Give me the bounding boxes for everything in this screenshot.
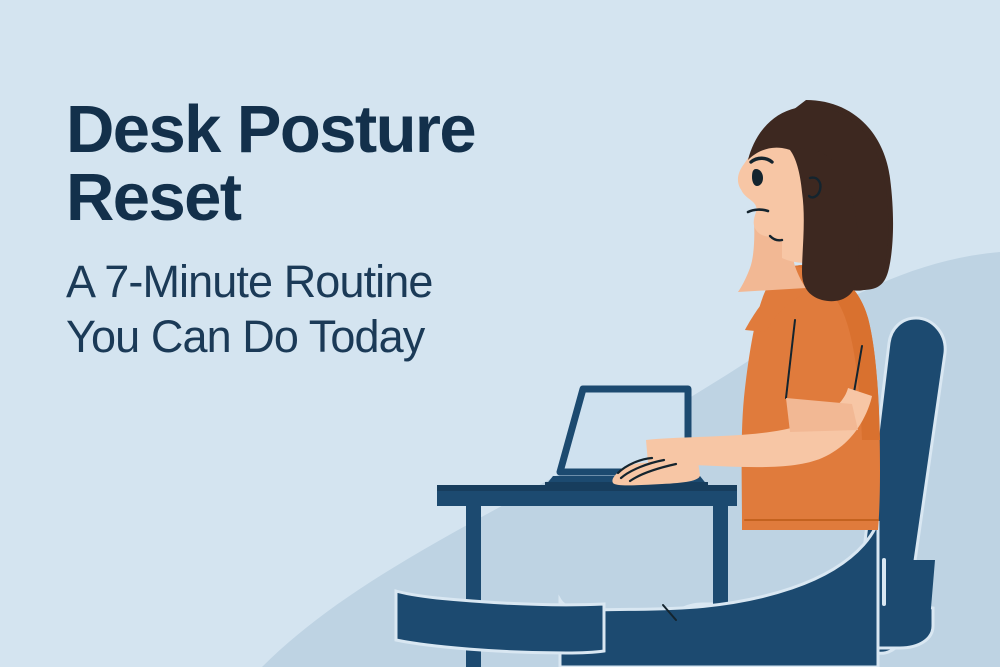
illustration-artboard (0, 0, 1000, 667)
title-card: Desk Posture Reset A 7-Minute Routine Yo… (0, 0, 1000, 667)
